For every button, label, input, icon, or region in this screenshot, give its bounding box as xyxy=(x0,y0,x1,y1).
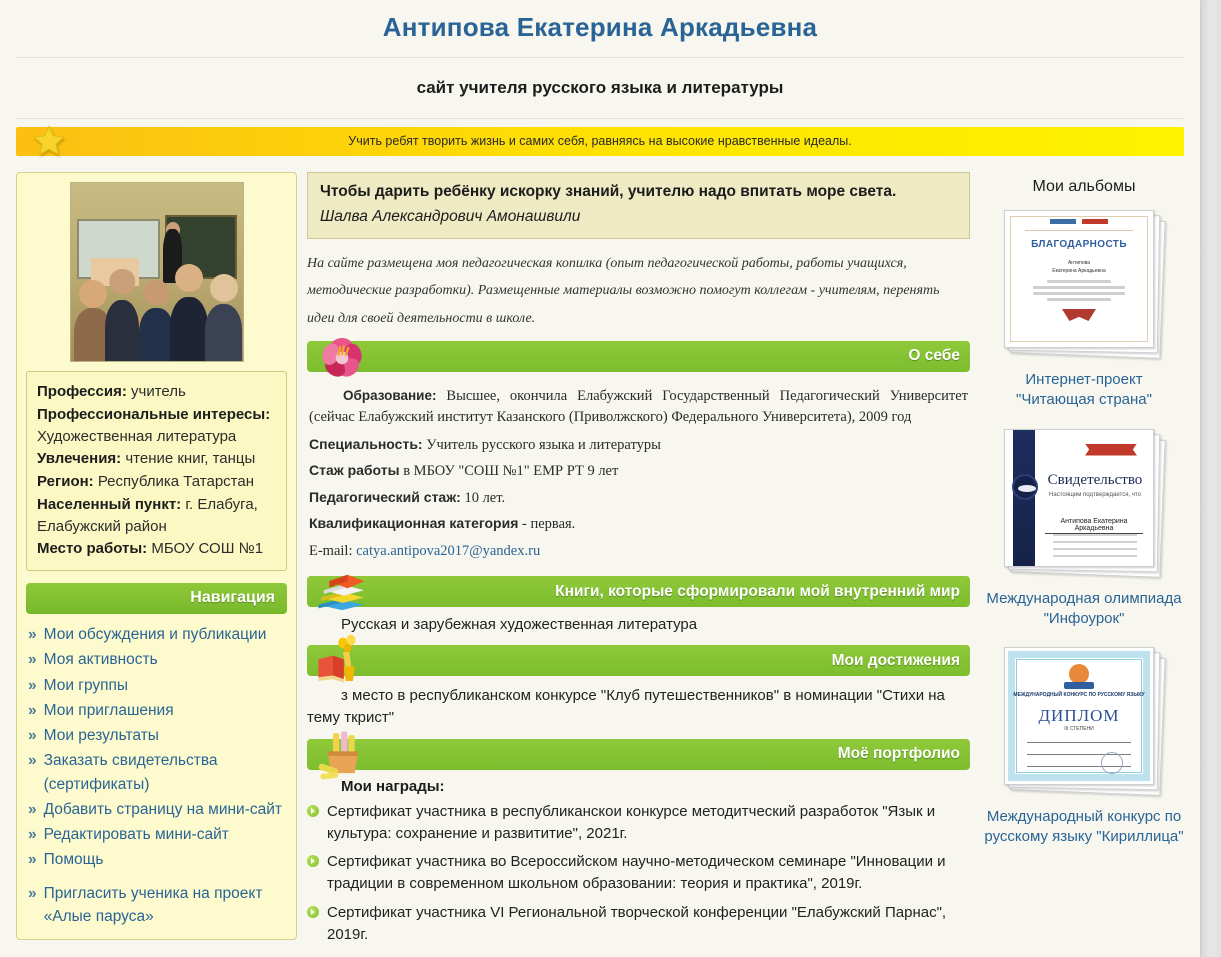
books-text: Русская и зарубежная художественная лите… xyxy=(307,607,970,639)
award-text: Сертификат участника VI Региональной тво… xyxy=(327,902,970,946)
nav-item: »Мои обсуждения и публикации xyxy=(28,622,287,647)
nav-link[interactable]: Мои результаты xyxy=(44,724,159,747)
nav-link[interactable]: Моя активность xyxy=(44,648,158,671)
specialty-line: Специальность: Учитель русского языка и … xyxy=(309,434,968,456)
category-line: Квалификационная категория - первая. xyxy=(309,513,968,535)
chevron-right-icon: » xyxy=(28,848,37,871)
section-header-portfolio: Моё портфолио xyxy=(307,739,970,770)
nav-item: »Мои результаты xyxy=(28,723,287,748)
nav-link[interactable]: Добавить страницу на мини-сайт xyxy=(44,798,282,821)
page-root: Антипова Екатерина Аркадьевна сайт учите… xyxy=(0,0,1201,957)
section-header-achievements: Мои достижения xyxy=(307,645,970,676)
education-line: Образование: Высшее, окончила Елабужский… xyxy=(309,386,968,428)
profile-row: Место работы: МБОУ СОШ №1 xyxy=(37,538,276,560)
about-body: Образование: Высшее, окончила Елабужский… xyxy=(307,372,970,570)
profile-row: Профессия: учитель xyxy=(37,381,276,403)
list-item: Сертификат участника в республиканскои к… xyxy=(307,801,970,845)
award-text: Сертификат участника в республиканскои к… xyxy=(327,801,970,845)
certificate-name: Антипова Екатерина Аркадьевна xyxy=(1045,518,1143,534)
page-subtitle: сайт учителя русского языка и литературы xyxy=(0,58,1200,118)
album-item[interactable]: БЛАГОДАРНОСТЬ Антипова Екатерина Аркадье… xyxy=(984,208,1184,411)
achievements-text: з место в республиканском конкурсе "Клуб… xyxy=(307,676,970,733)
page-title: Антипова Екатерина Аркадьевна xyxy=(0,0,1200,57)
certificate-sub: Настоящим подтверждается, что xyxy=(1045,492,1145,498)
motto-banner-wrap: Учить ребят творить жизнь и самих себя, … xyxy=(0,119,1200,166)
nav-link[interactable]: Мои группы xyxy=(44,674,128,697)
chevron-right-icon: » xyxy=(28,749,37,796)
section-title: Книги, которые сформировали мой внутренн… xyxy=(555,583,970,601)
profile-info: Профессия: учитель Профессиональные инте… xyxy=(26,371,287,571)
nav-item: »Мои группы xyxy=(28,673,287,698)
nav-item: »Помощь xyxy=(28,847,287,872)
awards-title: Мои награды: xyxy=(307,770,970,797)
certificate-thumbnail: Свидетельство Настоящим подтверждается, … xyxy=(1004,429,1154,567)
certificate-thumbnail: МЕЖДУНАРОДНЫЙ КОНКУРС ПО РУССКОМУ ЯЗЫКУ … xyxy=(1004,647,1154,785)
certificate-heading: Свидетельство xyxy=(1045,472,1145,489)
quote-text: Чтобы дарить ребёнку искорку знаний, учи… xyxy=(320,183,957,201)
nav-link[interactable]: Пригласить ученика на проект «Алые парус… xyxy=(44,882,287,929)
profile-row: Профессиональные интересы: Художественна… xyxy=(37,404,276,448)
experience-line: Стаж работы в МБОУ "СОШ №1" ЕМР РТ 9 лет xyxy=(309,460,968,482)
section-title: Мои достижения xyxy=(832,652,970,670)
certificate-thumbnail: БЛАГОДАРНОСТЬ Антипова Екатерина Аркадье… xyxy=(1004,210,1154,348)
motto-banner: Учить ребят творить жизнь и самих себя, … xyxy=(16,127,1184,156)
nav-item: »Пригласить ученика на проект «Алые пару… xyxy=(28,881,287,930)
main-content: Чтобы дарить ребёнку искорку знаний, учи… xyxy=(297,172,984,952)
album-caption[interactable]: Международный конкурс по русскому языку … xyxy=(984,807,1184,848)
profile-row: Населенный пункт: г. Елабуга, Елабужский… xyxy=(37,494,276,538)
section-header-about: О себе xyxy=(307,341,970,372)
nav-item: »Редактировать мини-сайт xyxy=(28,822,287,847)
certificate-top: МЕЖДУНАРОДНЫЙ КОНКУРС ПО РУССКОМУ ЯЗЫКУ xyxy=(1005,692,1153,698)
chevron-right-icon: » xyxy=(28,798,37,821)
right-sidebar: Мои альбомы БЛАГОДАРНОСТЬ Антипова Екате… xyxy=(984,172,1184,864)
chevron-right-icon: » xyxy=(28,699,37,722)
arrow-bullet-icon xyxy=(307,805,319,817)
award-text: Сертификат участника во Всероссийском на… xyxy=(327,851,970,895)
album-caption[interactable]: Интернет-проект "Читающая страна" xyxy=(984,370,1184,411)
profile-row: Увлечения: чтение книг, танцы xyxy=(37,448,276,470)
album-thumb-stack[interactable]: БЛАГОДАРНОСТЬ Антипова Екатерина Аркадье… xyxy=(999,208,1169,363)
left-sidebar: Профессия: учитель Профессиональные инте… xyxy=(16,172,297,940)
nav-item: »Мои приглашения xyxy=(28,698,287,723)
album-thumb-stack[interactable]: МЕЖДУНАРОДНЫЙ КОНКУРС ПО РУССКОМУ ЯЗЫКУ … xyxy=(999,645,1169,800)
quote-author: Шалва Александрович Амонашвили xyxy=(320,208,957,226)
intro-paragraph: На сайте размещена моя педагогическая ко… xyxy=(307,250,970,332)
arrow-bullet-icon xyxy=(307,906,319,918)
profile-row: Регион: Республика Татарстан xyxy=(37,471,276,493)
section-header-books: Книги, которые сформировали мой внутренн… xyxy=(307,576,970,607)
awards-list: Сертификат участника в республиканскои к… xyxy=(307,801,970,946)
nav-link[interactable]: Мои приглашения xyxy=(44,699,174,722)
motto-text: Учить ребят творить жизнь и самих себя, … xyxy=(308,134,891,149)
profile-photo xyxy=(70,182,244,362)
profile-card: Профессия: учитель Профессиональные инте… xyxy=(16,172,297,940)
album-item[interactable]: МЕЖДУНАРОДНЫЙ КОНКУРС ПО РУССКОМУ ЯЗЫКУ … xyxy=(984,645,1184,848)
list-item: Сертификат участника во Всероссийском на… xyxy=(307,851,970,895)
chevron-right-icon: » xyxy=(28,648,37,671)
nav-link[interactable]: Редактировать мини-сайт xyxy=(44,823,229,846)
star-icon xyxy=(32,124,66,158)
nav-item: »Моя активность xyxy=(28,647,287,672)
nav-link[interactable]: Помощь xyxy=(44,848,104,871)
page-gutter xyxy=(1202,0,1221,957)
chevron-right-icon: » xyxy=(28,882,37,929)
chevron-right-icon: » xyxy=(28,724,37,747)
navigation-header: Навигация xyxy=(26,583,287,614)
arrow-bullet-icon xyxy=(307,855,319,867)
certificate-heading: ДИПЛОМ xyxy=(1005,706,1153,726)
album-thumb-stack[interactable]: Свидетельство Настоящим подтверждается, … xyxy=(999,427,1169,582)
email-link[interactable]: catya.antipova2017@yandex.ru xyxy=(356,543,540,559)
chevron-right-icon: » xyxy=(28,823,37,846)
navigation-list: »Мои обсуждения и публикации »Моя активн… xyxy=(26,622,287,929)
list-item: Сертификат участника VI Региональной тво… xyxy=(307,902,970,946)
chevron-right-icon: » xyxy=(28,623,37,646)
email-line: E-mail: catya.antipova2017@yandex.ru xyxy=(309,540,968,562)
album-caption[interactable]: Международная олимпиада "Инфоурок" xyxy=(984,589,1184,630)
nav-link[interactable]: Мои обсуждения и публикации xyxy=(44,623,267,646)
chevron-right-icon: » xyxy=(28,674,37,697)
album-item[interactable]: Свидетельство Настоящим подтверждается, … xyxy=(984,427,1184,630)
nav-spacer xyxy=(28,873,287,881)
nav-item: »Добавить страницу на мини-сайт xyxy=(28,797,287,822)
certificate-sub: III СТЕПЕНИ xyxy=(1005,726,1153,732)
ped-experience-line: Педагогический стаж: 10 лет. xyxy=(309,487,968,509)
quote-box: Чтобы дарить ребёнку искорку знаний, учи… xyxy=(307,172,970,239)
nav-item: »Заказать свидетельства (сертификаты) xyxy=(28,748,287,797)
nav-link[interactable]: Заказать свидетельства (сертификаты) xyxy=(44,749,287,796)
albums-title: Мои альбомы xyxy=(984,172,1184,208)
section-title: Моё портфолио xyxy=(838,745,970,763)
section-title: О себе xyxy=(908,347,970,365)
